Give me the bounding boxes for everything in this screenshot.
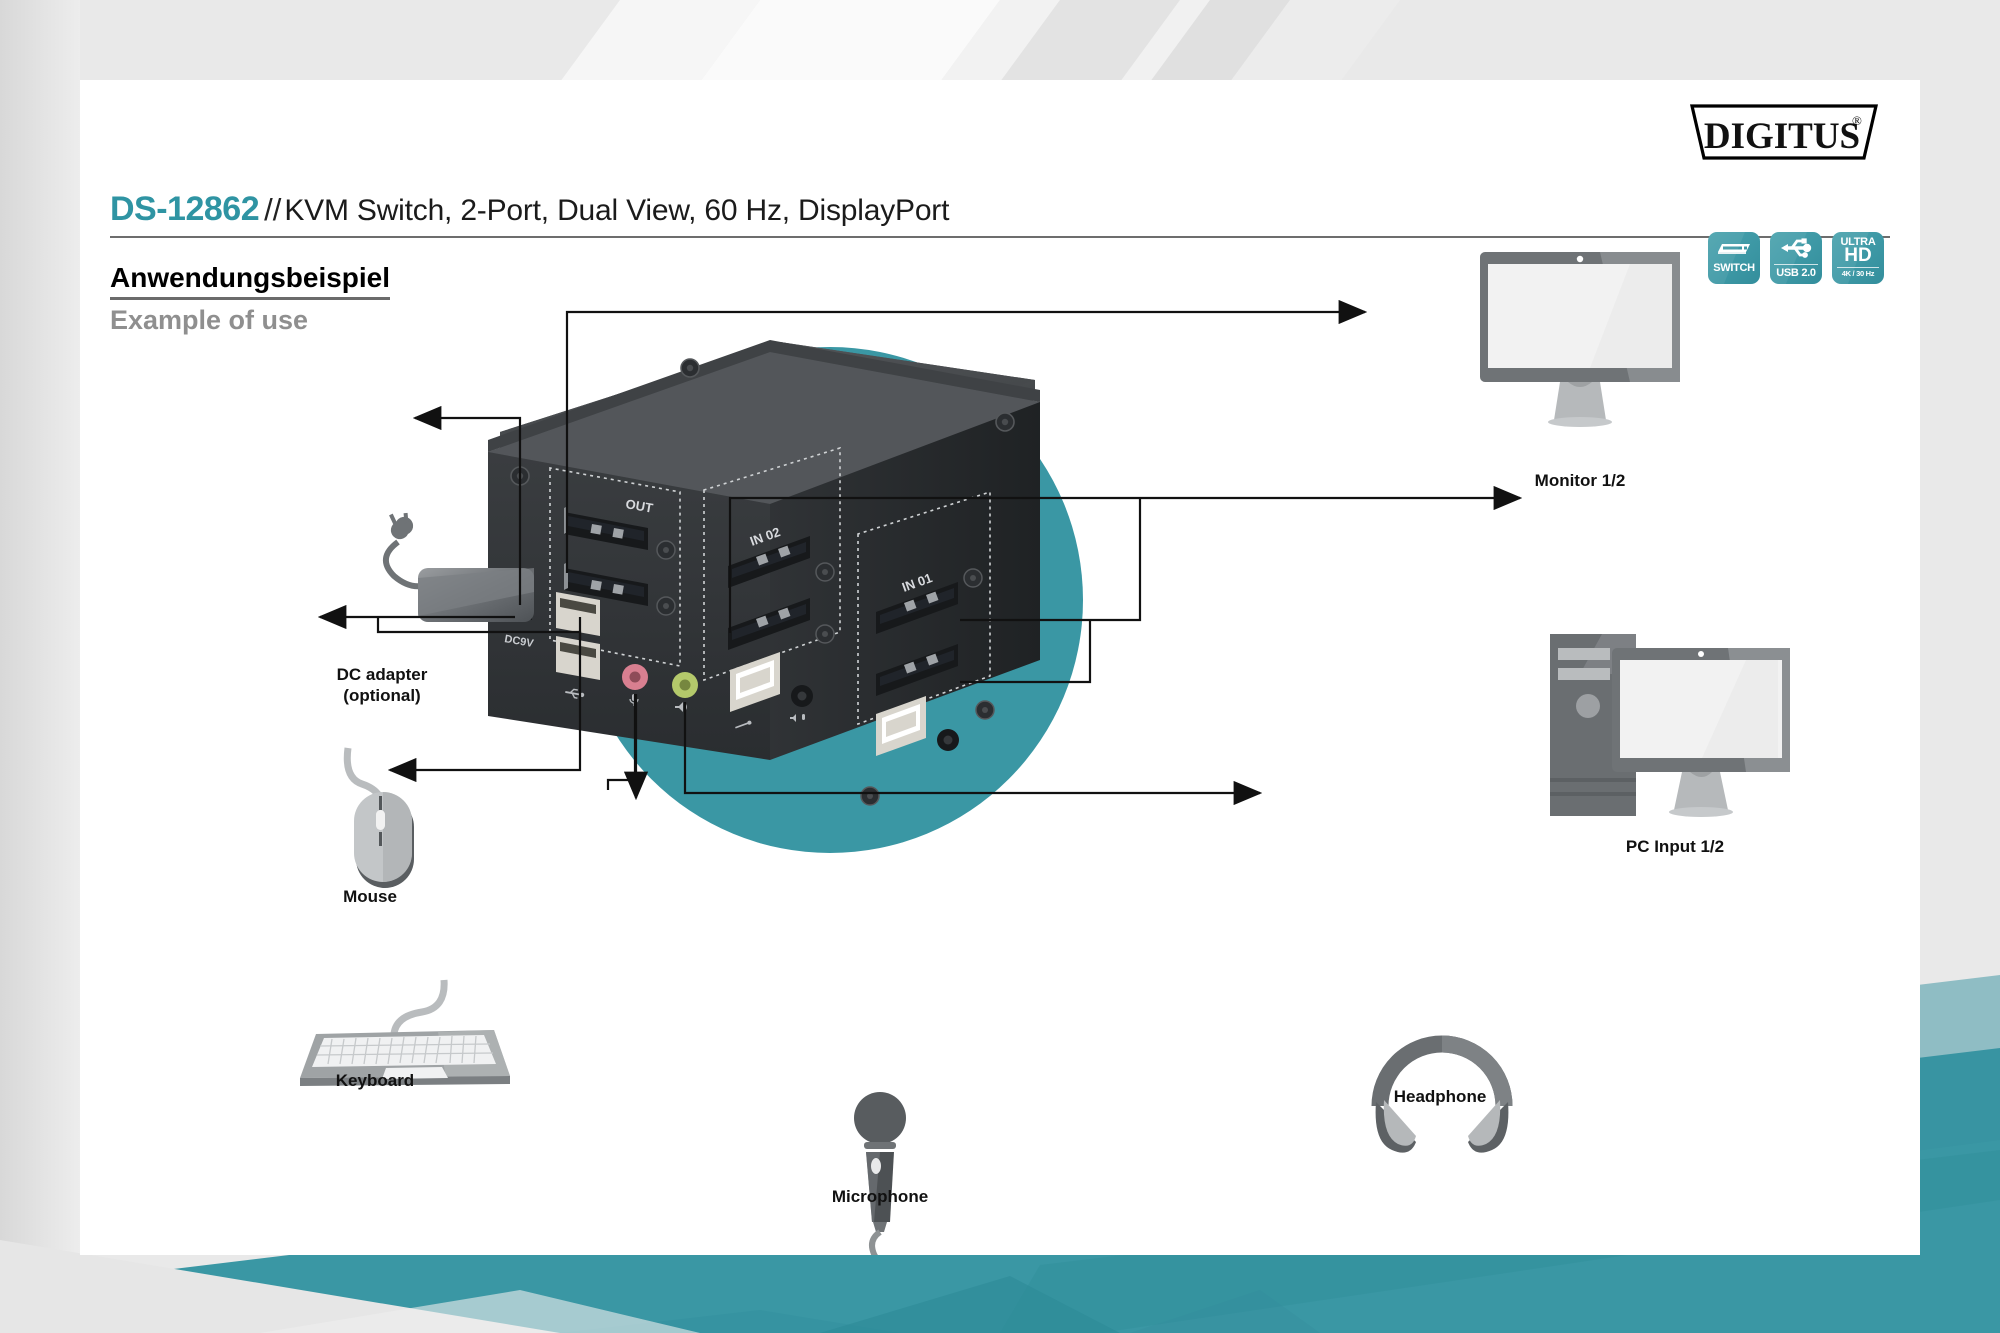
caption-mouse: Mouse <box>270 886 470 907</box>
badge-uhd-label-main: HD <box>1844 246 1871 265</box>
caption-monitor: Monitor 1/2 <box>1480 470 1680 491</box>
combo-jack-in01 <box>937 729 959 751</box>
kvm-switch-unit: OUT <box>488 340 1040 805</box>
top-stripes-decoration <box>560 0 1400 82</box>
badge-usb-label: USB 2.0 <box>1774 264 1818 279</box>
caption-headphone: Headphone <box>1340 1086 1540 1107</box>
badge-switch-label: SWITCH <box>1713 263 1755 274</box>
caption-microphone: Microphone <box>780 1186 980 1207</box>
badge-uhd-sublabel: 4K / 30 Hz <box>1837 267 1879 278</box>
microphone-icon <box>854 1092 906 1255</box>
usage-diagram: OUT <box>80 80 1920 1255</box>
caption-keyboard: Keyboard <box>265 1070 485 1091</box>
monitor-icon <box>1480 252 1680 427</box>
content-sheet: DIGITUS ® DS-12862//KVM Switch, 2-Port, … <box>80 80 1920 1255</box>
caption-dc-adapter: DC adapter (optional) <box>272 664 492 707</box>
caption-pc-input: PC Input 1/2 <box>1565 836 1785 857</box>
desktop-pc-icon <box>1550 634 1790 817</box>
mouse-icon <box>347 748 414 888</box>
